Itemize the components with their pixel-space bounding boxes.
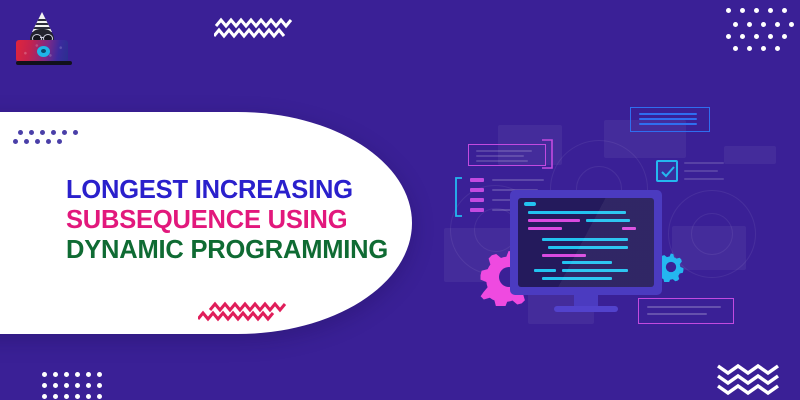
- laptop-icon: [16, 40, 68, 62]
- magenta-outlined-code-panel: [468, 144, 546, 166]
- cyan-bracket-icon: [453, 176, 465, 218]
- monitor-stand-base: [554, 306, 618, 312]
- white-dot-grid-top-right: [726, 8, 790, 60]
- white-zigzag-top: [214, 16, 294, 42]
- page-title: Longest Increasing Subsequence Using Dyn…: [66, 175, 396, 265]
- monitor-screen: [518, 198, 654, 287]
- white-wave-bottom-right: [716, 356, 786, 396]
- site-logo[interactable]: [14, 12, 70, 64]
- logo-badge-icon: [37, 46, 50, 57]
- magenta-outlined-bottom-panel: [638, 298, 734, 324]
- pink-zigzag-bottom: [198, 298, 290, 326]
- title-line-1: Longest Increasing: [66, 175, 396, 205]
- banner-root: Longest Increasing Subsequence Using Dyn…: [0, 0, 800, 400]
- cyan-checkbox-icon[interactable]: [656, 160, 678, 182]
- desktop-monitor-with-code: [510, 190, 662, 295]
- title-line-3: Dynamic Programming: [66, 235, 396, 265]
- coding-workspace-illustration: [440, 80, 800, 350]
- white-dot-grid-bottom-left: [42, 372, 106, 398]
- laptop-base-icon: [16, 61, 72, 65]
- screen-glare: [518, 198, 654, 287]
- title-line-2: Subsequence Using: [66, 205, 396, 235]
- faint-panel-f: [724, 146, 776, 164]
- magenta-code-tag-icon: [538, 138, 556, 172]
- blue-outlined-list-panel: [630, 107, 710, 132]
- sunglasses-bridge-icon: [40, 37, 44, 38]
